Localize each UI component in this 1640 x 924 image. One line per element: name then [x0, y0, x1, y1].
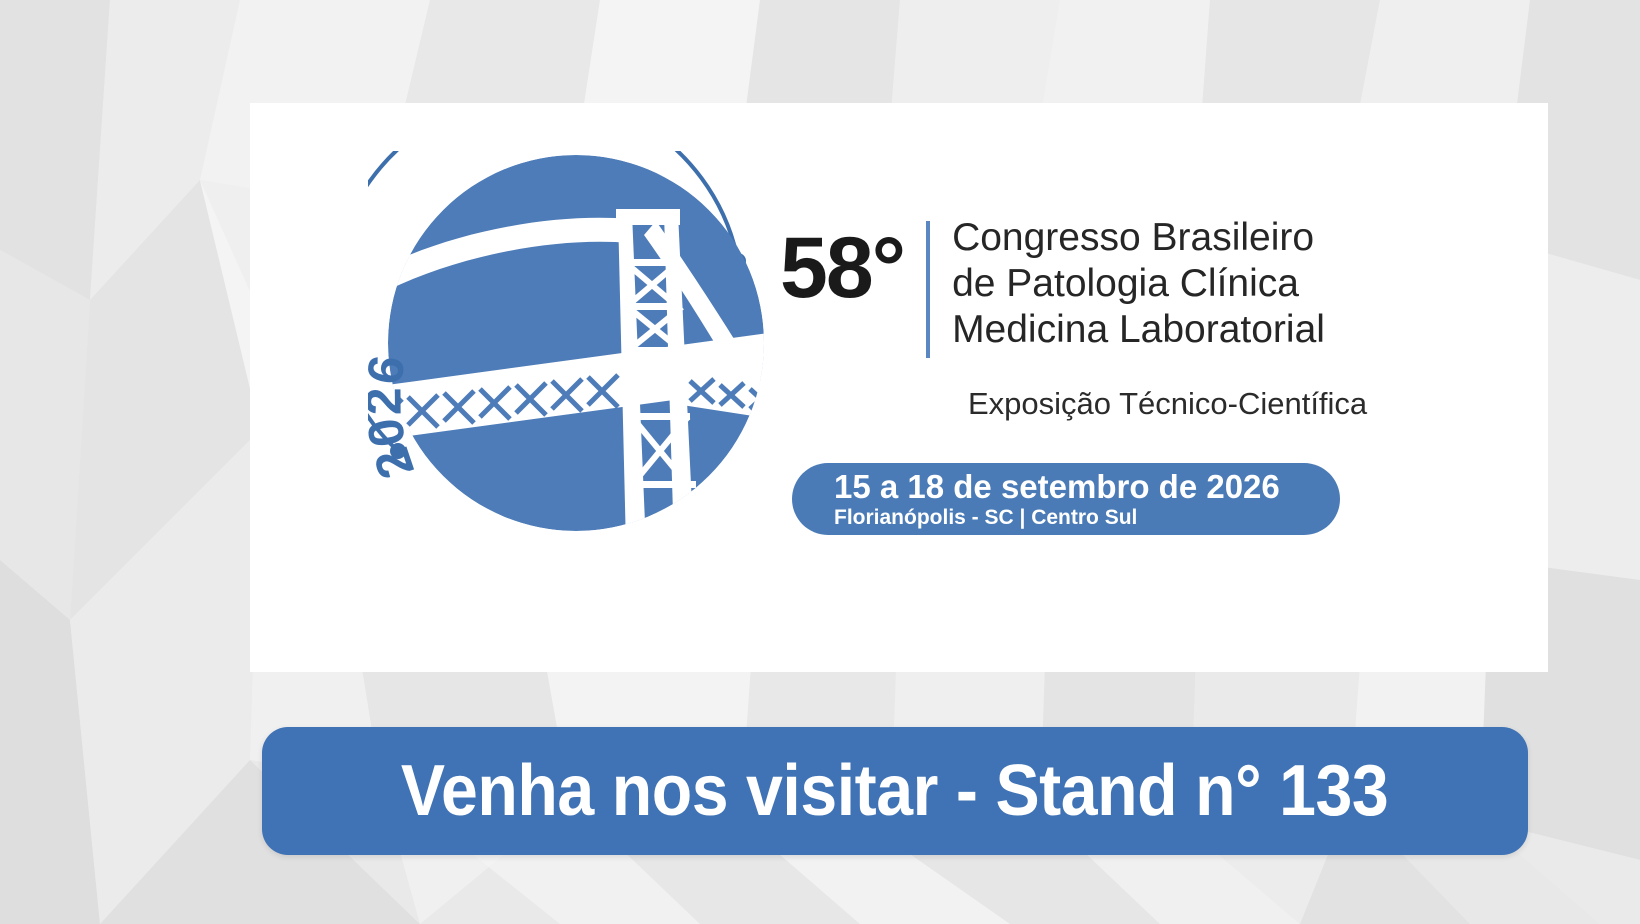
title-line-2: de Patologia Clínica — [952, 261, 1325, 307]
exposition-subtitle: Exposição Técnico-Científica — [968, 386, 1367, 422]
congress-emblem: 2026 — [368, 151, 788, 591]
congress-title-lines: Congresso Brasileiro de Patologia Clínic… — [952, 215, 1325, 353]
event-venue-text: Florianópolis - SC | Centro Sul — [834, 505, 1340, 530]
visit-stand-banner: Venha nos visitar - Stand n° 133 — [262, 727, 1528, 855]
event-logo-card: 2026 58° Congresso Brasileiro de Patolog… — [250, 103, 1548, 672]
title-line-1: Congresso Brasileiro — [952, 215, 1325, 261]
event-date-text: 15 a 18 de setembro de 2026 — [834, 469, 1340, 505]
congress-title-block: 58° Congresso Brasileiro de Patologia Cl… — [780, 215, 1400, 385]
bridge-circle-emblem-svg: 2026 — [368, 151, 788, 591]
title-line-3: Medicina Laboratorial — [952, 307, 1325, 353]
edition-number: 58° — [780, 225, 904, 311]
title-divider — [926, 221, 930, 358]
event-date-badge: 15 a 18 de setembro de 2026 Florianópoli… — [792, 463, 1340, 535]
visit-stand-text: Venha nos visitar - Stand n° 133 — [401, 755, 1388, 827]
